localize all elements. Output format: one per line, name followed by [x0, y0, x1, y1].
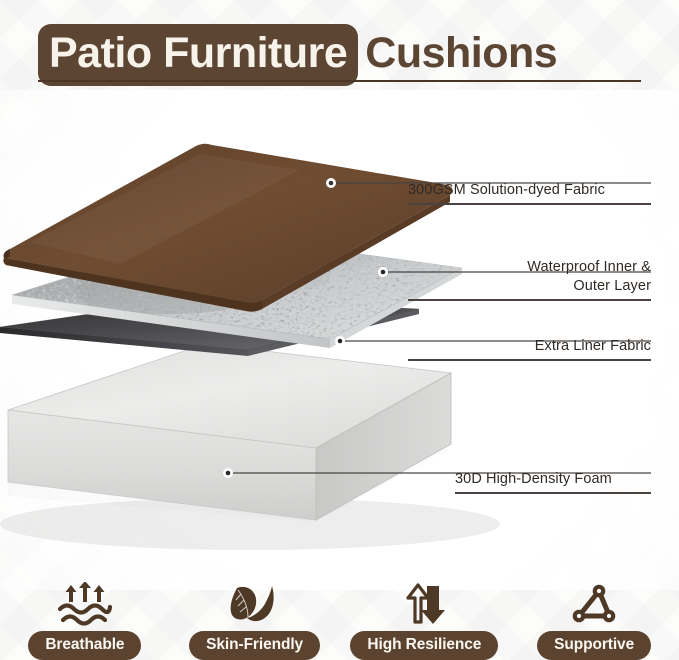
callout-dot-2: [378, 267, 388, 277]
title-badge: Patio Furniture: [38, 24, 358, 86]
callout-dot-1: [326, 178, 336, 188]
callout-underline: [408, 203, 651, 204]
feature-pill-breathable[interactable]: Breathable: [28, 631, 141, 660]
infographic-page: Patio Furniture Cushions: [0, 0, 679, 660]
feature-skin-friendly: Skin-Friendly: [170, 581, 340, 660]
feather-icon: [228, 581, 282, 627]
callout-label-text: 300GSM Solution-dyed Fabric: [408, 182, 605, 198]
callout-label-liner: Extra Liner Fabric: [408, 318, 651, 380]
callout-dot-3: [335, 336, 345, 346]
callout-underline: [408, 359, 651, 360]
callout-label-text: Extra Liner Fabric: [535, 338, 651, 354]
callout-label-waterproof: Waterproof Inner & Outer Layer: [408, 239, 651, 320]
feature-pill-high-resilience[interactable]: High Resilience: [350, 631, 498, 660]
callout-label-foam: 30D High-Density Foam: [455, 451, 651, 513]
header: Patio Furniture Cushions: [0, 0, 679, 92]
title-divider: [38, 80, 641, 82]
callout-label-top-fabric: 300GSM Solution-dyed Fabric: [408, 162, 651, 224]
feature-supportive: Supportive: [509, 581, 679, 660]
feature-pill-skin-friendly[interactable]: Skin-Friendly: [189, 631, 320, 660]
up-down-arrows-icon: [401, 581, 447, 627]
callout-label-text: 30D High-Density Foam: [455, 471, 612, 487]
triangle-nodes-icon: [570, 581, 618, 627]
feature-badges: Breathable Skin-Friendly: [0, 556, 679, 660]
breathable-waves-arrows-icon: [56, 581, 114, 627]
page-title: Patio Furniture Cushions: [38, 24, 557, 86]
callout-label-text: Waterproof Inner & Outer Layer: [527, 259, 651, 294]
title-rest: Cushions: [358, 24, 557, 86]
feature-high-resilience: High Resilience: [340, 581, 510, 660]
feature-breathable: Breathable: [0, 581, 170, 660]
feature-pill-supportive[interactable]: Supportive: [537, 631, 651, 660]
callout-underline: [455, 492, 651, 493]
callout-dot-4: [223, 468, 233, 478]
callout-underline: [408, 299, 651, 300]
